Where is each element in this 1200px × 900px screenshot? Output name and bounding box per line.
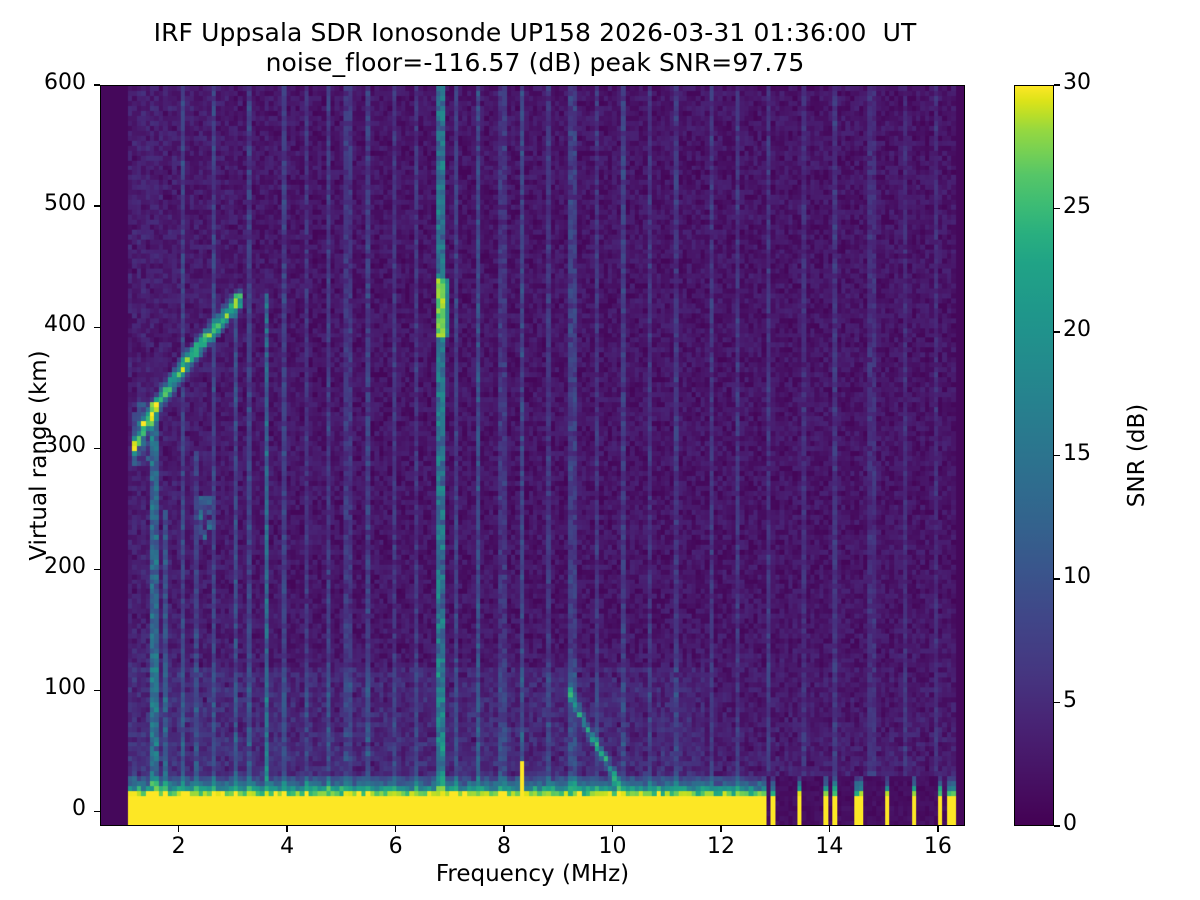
x-tick: [612, 826, 613, 832]
colorbar-tick: [1054, 702, 1060, 703]
x-tick: [720, 826, 721, 832]
colorbar-label: SNR (dB): [1124, 85, 1150, 826]
y-tick: [94, 448, 100, 449]
colorbar-tick-label: 5: [1063, 688, 1077, 713]
title-line-1: IRF Uppsala SDR Ionosonde UP158 2026-03-…: [0, 18, 1070, 48]
title-line-2: noise_floor=-116.57 (dB) peak SNR=97.75: [0, 48, 1070, 78]
colorbar-tick-label: 10: [1063, 564, 1091, 589]
ionogram-plot-area: [100, 85, 965, 826]
colorbar-tick: [1054, 84, 1060, 85]
y-tick: [94, 690, 100, 691]
colorbar-tick: [1054, 208, 1060, 209]
ionogram-figure: IRF Uppsala SDR Ionosonde UP158 2026-03-…: [0, 0, 1200, 900]
figure-title: IRF Uppsala SDR Ionosonde UP158 2026-03-…: [0, 18, 1070, 77]
x-axis-label: Frequency (MHz): [100, 861, 965, 887]
ionogram-heatmap: [101, 86, 964, 825]
colorbar-tick-label: 25: [1063, 194, 1091, 219]
x-tick: [286, 826, 287, 832]
colorbar-tick-label: 15: [1063, 441, 1091, 466]
x-tick: [178, 826, 179, 832]
x-tick-label: 16: [898, 834, 978, 859]
colorbar-tick: [1054, 578, 1060, 579]
x-tick: [829, 826, 830, 832]
colorbar-tick: [1054, 331, 1060, 332]
y-tick: [94, 327, 100, 328]
y-tick: [94, 205, 100, 206]
x-tick-label: 14: [789, 834, 869, 859]
x-tick-label: 10: [572, 834, 652, 859]
y-tick: [94, 569, 100, 570]
x-tick: [395, 826, 396, 832]
colorbar-tick: [1054, 455, 1060, 456]
x-tick-label: 8: [464, 834, 544, 859]
x-tick-label: 6: [356, 834, 436, 859]
x-tick: [503, 826, 504, 832]
colorbar-tick: [1054, 825, 1060, 826]
x-tick-label: 12: [681, 834, 761, 859]
x-tick: [937, 826, 938, 832]
y-tick: [94, 811, 100, 812]
colorbar-tick-label: 0: [1063, 811, 1077, 836]
colorbar: [1014, 85, 1054, 826]
x-tick-label: 2: [139, 834, 219, 859]
x-tick-label: 4: [247, 834, 327, 859]
colorbar-tick-label: 20: [1063, 317, 1091, 342]
colorbar-tick-label: 30: [1063, 70, 1091, 95]
y-axis-label: Virtual range (km): [26, 85, 52, 826]
y-tick: [94, 84, 100, 85]
